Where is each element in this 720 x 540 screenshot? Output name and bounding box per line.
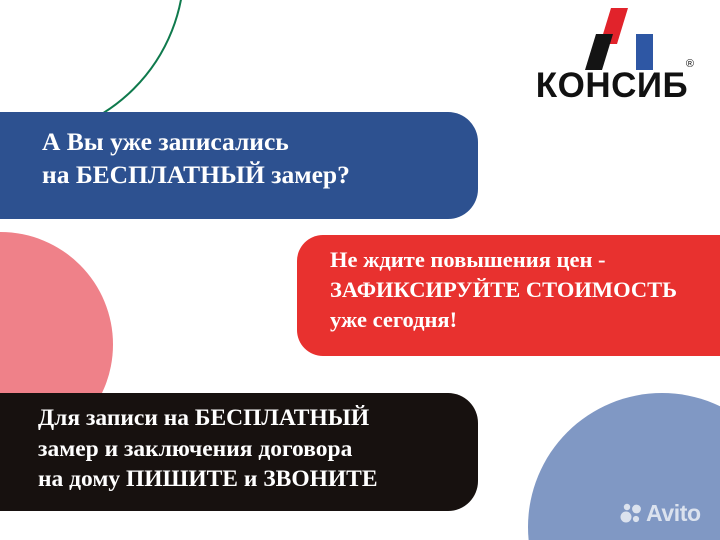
avito-watermark-label: Avito — [646, 502, 701, 525]
avito-watermark: Avito — [620, 500, 701, 526]
banner-black-line-3: на дому ПИШИТЕ и ЗВОНИТЕ — [38, 464, 478, 495]
brand-logo: КОНСИБ ® — [522, 8, 702, 108]
banner-blue-line-1: А Вы уже записались — [42, 125, 478, 158]
headline-banner-red: Не ждите повышения цен - ЗАФИКСИРУЙТЕ СТ… — [297, 235, 720, 356]
registered-trademark-icon: ® — [686, 58, 694, 70]
avito-dots-icon — [620, 503, 642, 523]
banner-red-line-1: Не ждите повышения цен - — [330, 245, 720, 275]
headline-banner-blue: А Вы уже записались на БЕСПЛАТНЫЙ замер? — [0, 112, 478, 219]
banner-blue-line-2: на БЕСПЛАТНЫЙ замер? — [42, 158, 478, 191]
headline-banner-black: Для записи на БЕСПЛАТНЫЙ замер и заключе… — [0, 393, 478, 511]
banner-red-line-2: ЗАФИКСИРУЙТЕ СТОИМОСТЬ — [330, 275, 720, 305]
banner-red-line-3: уже сегодня! — [330, 305, 720, 335]
banner-black-line-1: Для записи на БЕСПЛАТНЫЙ — [38, 403, 478, 434]
poster-canvas: КОНСИБ ® А Вы уже записались на БЕСПЛАТН… — [0, 0, 720, 540]
banner-black-line-2: замер и заключения договора — [38, 434, 478, 465]
logo-wordmark: КОНСИБ — [522, 68, 702, 103]
three-parallelograms-logo-icon — [584, 8, 660, 70]
